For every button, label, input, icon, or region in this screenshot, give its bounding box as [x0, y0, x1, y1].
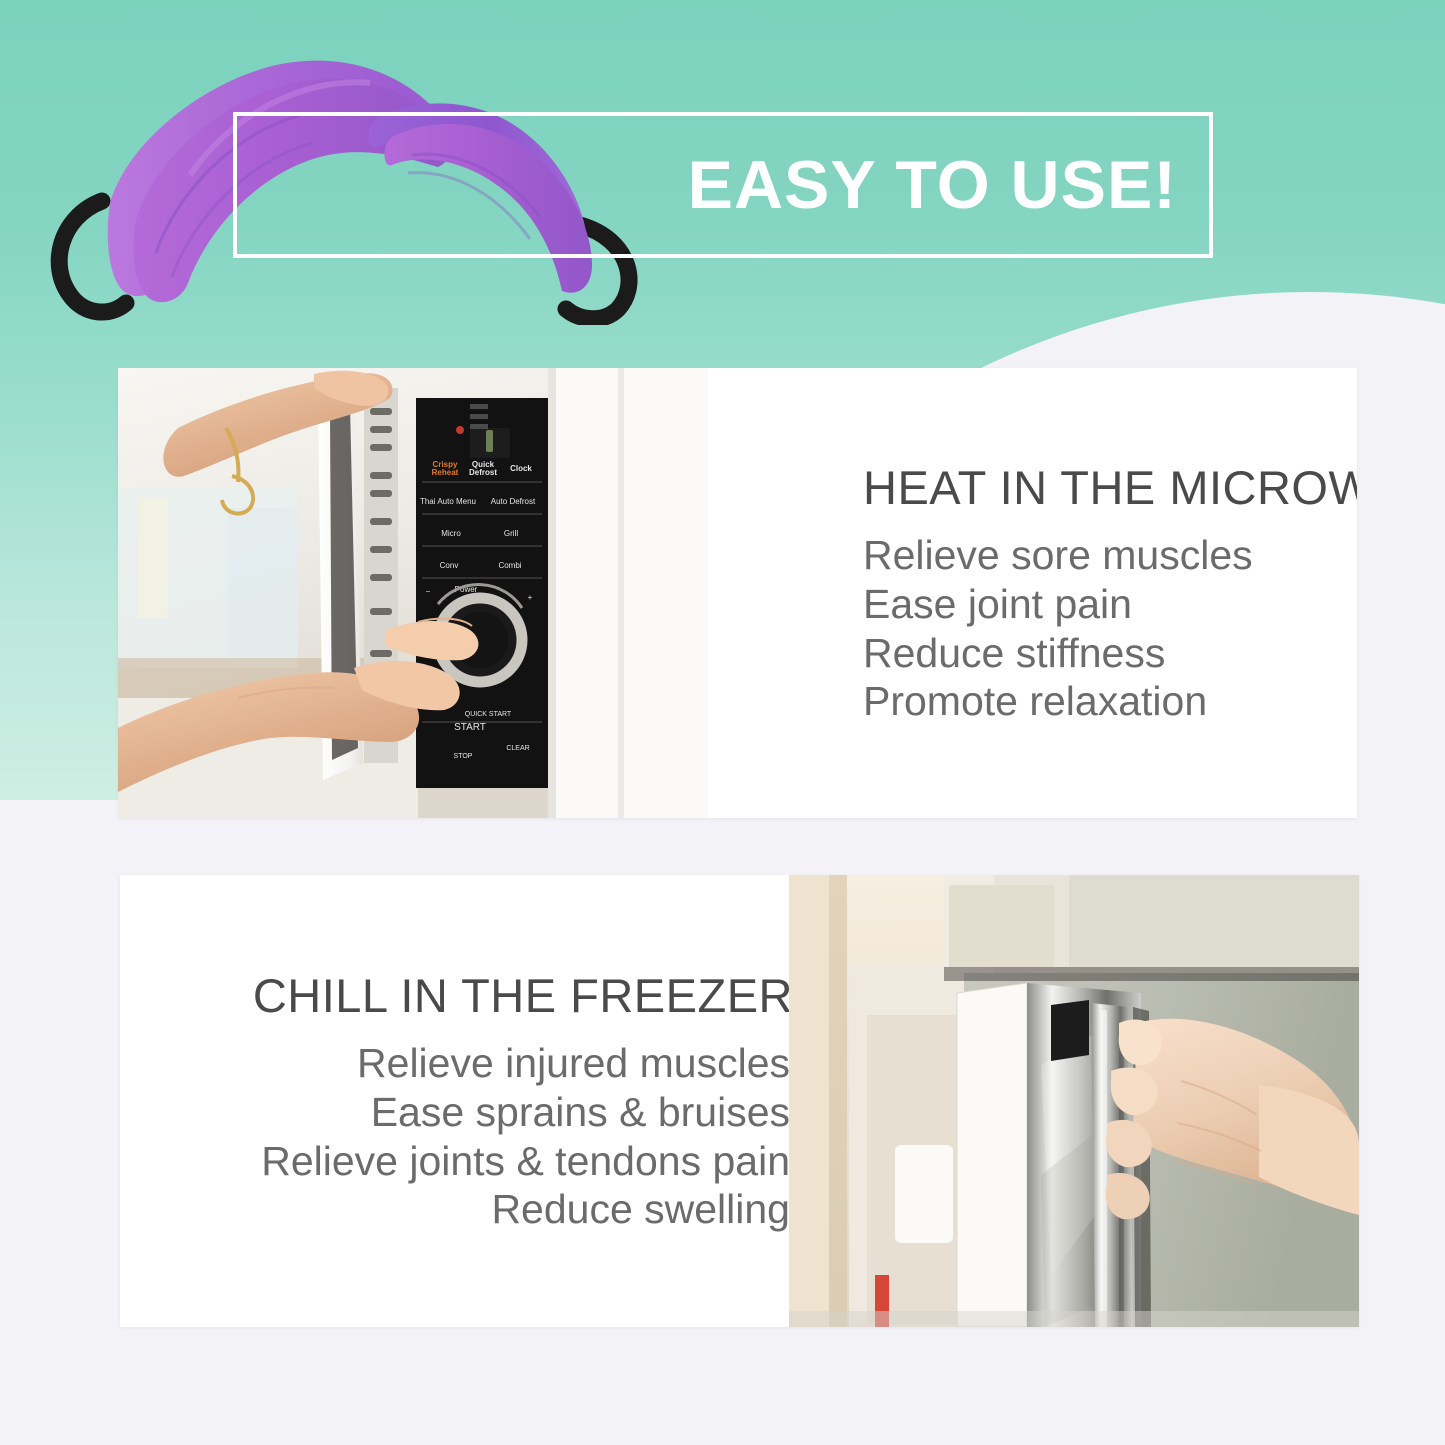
card-heat-in-the-microwave: Crispy Reheat Quick Defrost Clock Thai A…	[118, 368, 1357, 818]
benefit-item: Ease sprains & bruises	[261, 1088, 790, 1137]
benefit-list-freezer: Relieve injured muscles Ease sprains & b…	[261, 1039, 790, 1234]
svg-text:STOP: STOP	[454, 753, 473, 760]
card-title-microwave: HEAT IN THE MICROWAVE	[863, 460, 1357, 515]
microwave-copy-block: HEAT IN THE MICROWAVE Relieve sore muscl…	[708, 368, 1357, 818]
card-title-freezer: CHILL IN THE FREEZER	[253, 968, 793, 1023]
benefit-list-microwave: Relieve sore muscles Ease joint pain Red…	[863, 531, 1253, 726]
hand-opening-microwave-photo: Crispy Reheat Quick Defrost Clock Thai A…	[118, 368, 708, 818]
svg-text:Thai Auto Menu: Thai Auto Menu	[420, 497, 476, 506]
svg-text:Grill: Grill	[504, 529, 518, 538]
svg-text:Auto Defrost: Auto Defrost	[491, 497, 536, 506]
freezer-copy-block: CHILL IN THE FREEZER Relieve injured mus…	[120, 875, 790, 1327]
svg-text:Combi: Combi	[498, 561, 521, 570]
svg-text:+: +	[528, 593, 533, 602]
benefit-item: Relieve sore muscles	[863, 531, 1253, 580]
infographic-canvas: EASY TO USE!	[0, 0, 1445, 1445]
svg-text:Clock: Clock	[510, 464, 532, 473]
page-headline: EASY TO USE!	[233, 112, 1213, 258]
benefit-item: Reduce swelling	[261, 1185, 790, 1234]
svg-text:Micro: Micro	[441, 529, 461, 538]
svg-text:Reheat: Reheat	[432, 468, 459, 477]
benefit-item: Relieve injured muscles	[261, 1039, 790, 1088]
svg-text:CLEAR: CLEAR	[506, 745, 529, 752]
benefit-item: Relieve joints & tendons pain	[261, 1137, 790, 1186]
benefit-item: Promote relaxation	[863, 677, 1253, 726]
svg-text:Conv: Conv	[440, 561, 459, 570]
benefit-item: Ease joint pain	[863, 580, 1253, 629]
svg-text:START: START	[454, 722, 486, 733]
benefit-item: Reduce stiffness	[863, 629, 1253, 678]
card-chill-in-the-freezer: CHILL IN THE FREEZER Relieve injured mus…	[120, 875, 1359, 1327]
svg-text:−: −	[426, 587, 431, 596]
hand-opening-freezer-photo	[789, 875, 1359, 1327]
svg-text:Defrost: Defrost	[469, 468, 497, 477]
svg-text:QUICK START: QUICK START	[465, 711, 512, 718]
